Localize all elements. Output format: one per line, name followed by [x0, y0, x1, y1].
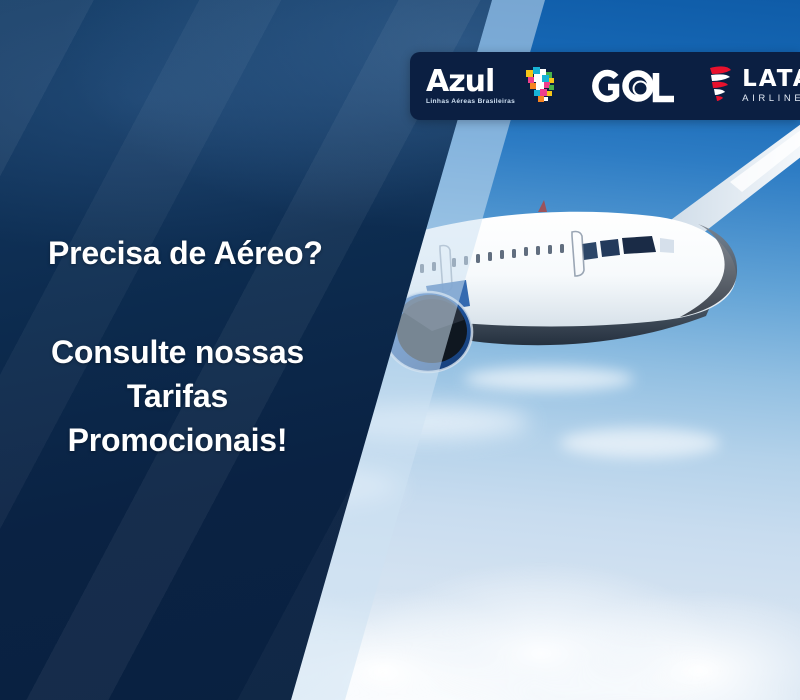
marketing-copy: Precisa de Aéreo? Consulte nossas Tarifa… — [0, 0, 400, 700]
airline-logo-bar: Azul Linhas Aéreas Brasileiras — [410, 52, 800, 120]
subheadline: Consulte nossas Tarifas Promocionais! — [0, 330, 355, 462]
latam-name: LATAM — [742, 68, 800, 91]
azul-name: Azul — [426, 67, 494, 97]
latam-tagline: AIRLINES — [742, 94, 800, 104]
azul-tagline: Linhas Aéreas Brasileiras — [426, 99, 515, 106]
headline: Precisa de Aéreo? — [48, 235, 323, 272]
latam-swirl-icon — [706, 62, 734, 111]
azul-logo[interactable]: Azul Linhas Aéreas Brasileiras — [410, 62, 562, 111]
latam-wordmark: LATAM AIRLINES — [742, 68, 800, 104]
subheadline-line-2: Tarifas — [0, 374, 355, 418]
azul-wordmark: Azul Linhas Aéreas Brasileiras — [426, 67, 515, 106]
subheadline-line-3: Promocionais! — [0, 418, 355, 462]
gol-logo[interactable] — [588, 66, 680, 106]
gol-wordmark-icon — [588, 66, 680, 106]
promotional-banner: Precisa de Aéreo? Consulte nossas Tarifa… — [0, 0, 800, 700]
latam-logo[interactable]: LATAM AIRLINES — [706, 62, 800, 111]
subheadline-line-1: Consulte nossas — [0, 330, 355, 374]
brazil-map-mosaic-icon — [522, 62, 562, 111]
